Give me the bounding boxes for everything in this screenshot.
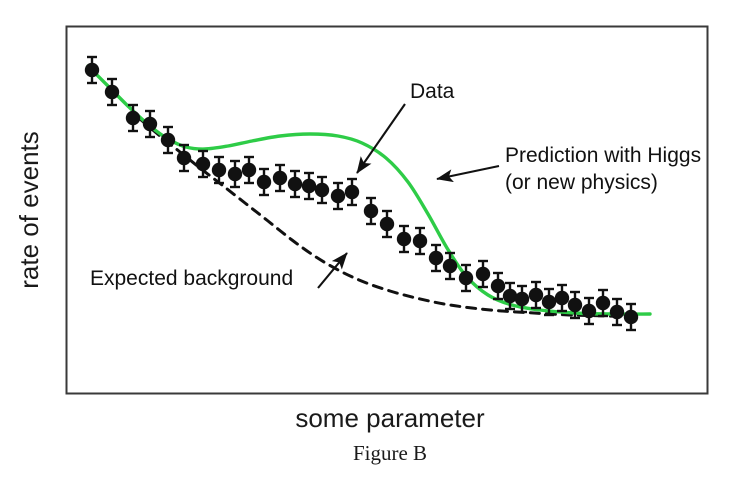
figure-container: Data Prediction with Higgs (or new physi… [0,0,736,479]
y-axis-label: rate of events [14,131,44,289]
prediction-label-line2: (or new physics) [505,171,658,194]
x-axis-label: some parameter [295,403,485,433]
chart-svg: Data Prediction with Higgs (or new physi… [0,0,736,479]
expected-background-label: Expected background [90,267,293,290]
data-label: Data [410,80,455,103]
figure-caption: Figure B [353,441,427,465]
prediction-label-line1: Prediction with Higgs [505,144,701,167]
